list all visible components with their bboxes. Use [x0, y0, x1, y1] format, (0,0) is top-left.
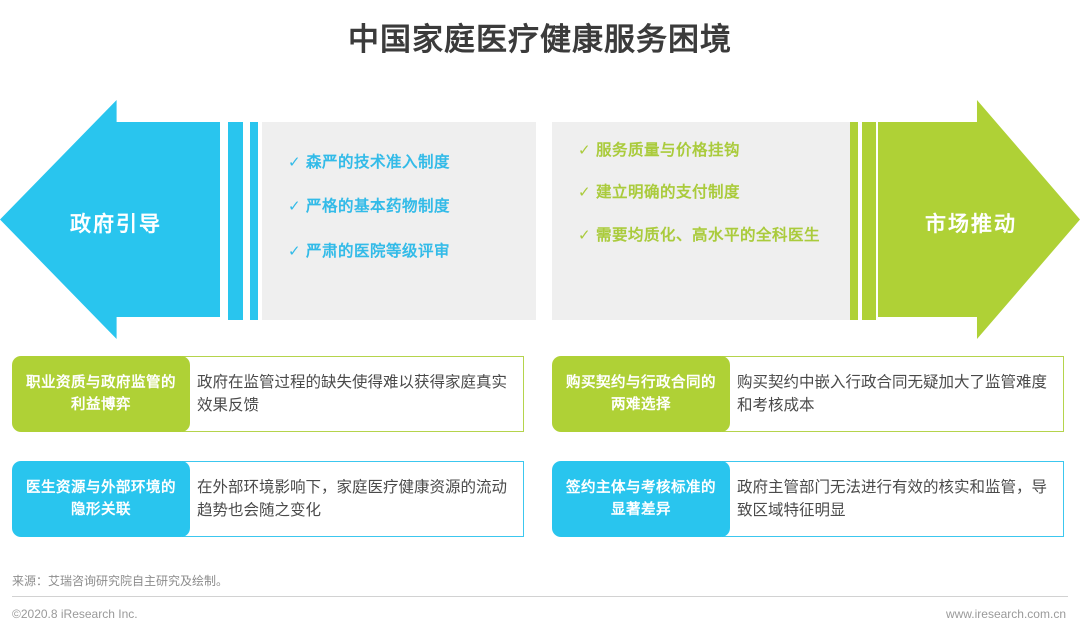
bullet-text: 需要均质化、高水平的全科医生: [596, 225, 843, 247]
infographic-root: 中国家庭医疗健康服务困境 政府引导 市场推动 ✓ 森严的技术准入制度 ✓ 严格的…: [0, 0, 1080, 640]
bullet-item: ✓ 严格的基本药物制度: [288, 196, 528, 218]
issue-card-label: 购买契约与行政合同的两难选择: [552, 356, 730, 432]
issue-card-label: 职业资质与政府监管的利益博弈: [12, 356, 190, 432]
arrow-left-stripe-1: [228, 122, 243, 320]
bullet-text: 森严的技术准入制度: [306, 152, 528, 174]
check-icon: ✓: [288, 196, 306, 218]
arrow-right-stripe-2: [862, 122, 876, 320]
bullet-item: ✓ 服务质量与价格挂钩: [578, 140, 843, 162]
bullet-text: 严肃的医院等级评审: [306, 241, 528, 263]
bullet-list-right: ✓ 服务质量与价格挂钩 ✓ 建立明确的支付制度 ✓ 需要均质化、高水平的全科医生: [578, 140, 843, 267]
copyright-text: ©2020.8 iResearch Inc.: [12, 607, 138, 621]
check-icon: ✓: [578, 225, 596, 247]
bullet-item: ✓ 严肃的医院等级评审: [288, 241, 528, 263]
issue-card-body: 在外部环境影响下，家庭医疗健康资源的流动趋势也会随之变化: [182, 461, 524, 537]
check-icon: ✓: [288, 152, 306, 174]
check-icon: ✓: [578, 182, 596, 204]
bullet-item: ✓ 建立明确的支付制度: [578, 182, 843, 204]
issue-card: 政府在监管过程的缺失使得难以获得家庭真实效果反馈 职业资质与政府监管的利益博弈: [12, 356, 524, 432]
page-title: 中国家庭医疗健康服务困境: [0, 14, 1080, 59]
check-icon: ✓: [288, 241, 306, 263]
issue-card-label: 医生资源与外部环境的隐形关联: [12, 461, 190, 537]
bullet-item: ✓ 需要均质化、高水平的全科医生: [578, 225, 843, 247]
issue-card-body: 购买契约中嵌入行政合同无疑加大了监管难度和考核成本: [722, 356, 1064, 432]
arrow-left-label: 政府引导: [70, 208, 162, 238]
issue-card-body: 政府主管部门无法进行有效的核实和监管，导致区域特征明显: [722, 461, 1064, 537]
bullet-text: 服务质量与价格挂钩: [596, 140, 843, 162]
check-icon: ✓: [578, 140, 596, 162]
bullet-list-left: ✓ 森严的技术准入制度 ✓ 严格的基本药物制度 ✓ 严肃的医院等级评审: [288, 152, 528, 285]
arrow-right-stripe-1: [850, 122, 858, 320]
arrow-right-label: 市场推动: [925, 208, 1017, 238]
footer-divider: [12, 596, 1068, 597]
website-link[interactable]: www.iresearch.com.cn: [946, 607, 1066, 621]
bullet-text: 严格的基本药物制度: [306, 196, 528, 218]
issue-card: 购买契约中嵌入行政合同无疑加大了监管难度和考核成本 购买契约与行政合同的两难选择: [552, 356, 1064, 432]
bullet-item: ✓ 森严的技术准入制度: [288, 152, 528, 174]
issue-card: 政府主管部门无法进行有效的核实和监管，导致区域特征明显 签约主体与考核标准的显著…: [552, 461, 1064, 537]
issue-card-label: 签约主体与考核标准的显著差异: [552, 461, 730, 537]
bullet-text: 建立明确的支付制度: [596, 182, 843, 204]
arrow-left-stripe-2: [250, 122, 258, 320]
issue-card: 在外部环境影响下，家庭医疗健康资源的流动趋势也会随之变化 医生资源与外部环境的隐…: [12, 461, 524, 537]
issue-card-body: 政府在监管过程的缺失使得难以获得家庭真实效果反馈: [182, 356, 524, 432]
source-note: 来源：艾瑞咨询研究院自主研究及绘制。: [12, 572, 228, 589]
